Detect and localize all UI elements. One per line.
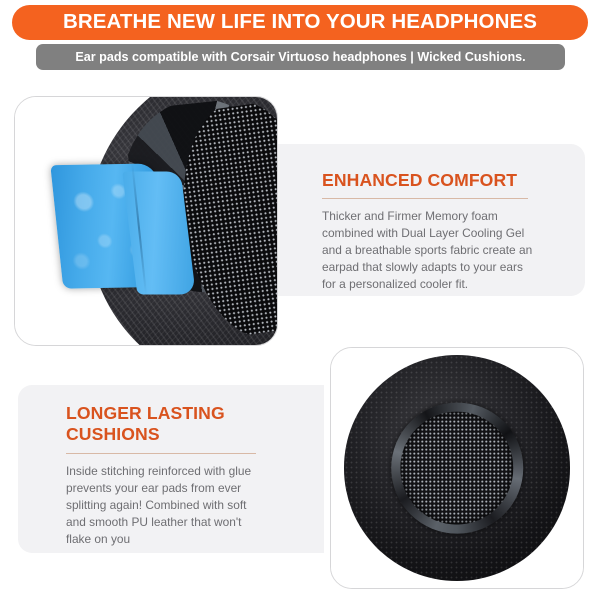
photo-ear-pad-top-view <box>330 347 584 589</box>
feature-longer-lasting-cushions: LONGER LASTING CUSHIONS Inside stitching… <box>66 403 266 547</box>
subtitle-bar: Ear pads compatible with Corsair Virtuos… <box>36 44 565 70</box>
feature-enhanced-comfort: ENHANCED COMFORT Thicker and Firmer Memo… <box>322 170 536 293</box>
photo-gel-layer-closeup <box>14 96 278 346</box>
ear-pad-mesh-center <box>400 412 513 525</box>
infographic-canvas: BREATHE NEW LIFE INTO YOUR HEADPHONES Ea… <box>0 0 600 600</box>
subtitle-text: Ear pads compatible with Corsair Virtuos… <box>75 51 525 64</box>
feature-body-enhanced-comfort: Thicker and Firmer Memory foam combined … <box>322 208 536 293</box>
ear-pad-artwork <box>331 348 583 588</box>
header-banner-text: BREATHE NEW LIFE INTO YOUR HEADPHONES <box>63 12 537 33</box>
ear-pad-outer-ring <box>344 355 571 581</box>
feature-title-longer-lasting-cushions: LONGER LASTING CUSHIONS <box>66 403 266 446</box>
feature-title-enhanced-comfort: ENHANCED COMFORT <box>322 170 536 191</box>
gel-closeup-artwork <box>15 97 277 345</box>
feature-title-rule <box>66 453 256 454</box>
feature-title-rule <box>322 198 528 199</box>
feature-body-longer-lasting-cushions: Inside stitching reinforced with glue pr… <box>66 463 266 548</box>
header-banner: BREATHE NEW LIFE INTO YOUR HEADPHONES <box>12 5 588 40</box>
